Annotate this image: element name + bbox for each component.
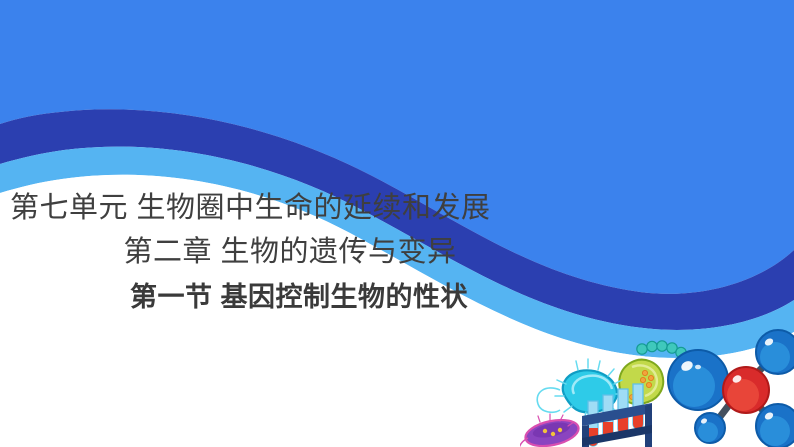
- page-title-line-2: 第二章 生物的遗传与变异: [0, 230, 580, 274]
- page-title-line-1: 第七单元 生物圈中生命的延续和发展: [0, 186, 580, 230]
- science-illustration: [520, 318, 794, 447]
- presentation-slide: 第七单元 生物圈中生命的延续和发展 第二章 生物的遗传与变异 第一节 基因控制生…: [0, 0, 794, 447]
- page-title-line-3: 第一节 基因控制生物的性状: [0, 274, 580, 320]
- purple-bacterium-icon: [520, 414, 581, 447]
- molecule-model-icon: [668, 330, 794, 447]
- slide-title-block: 第七单元 生物圈中生命的延续和发展 第二章 生物的遗传与变异 第一节 基因控制生…: [0, 186, 580, 320]
